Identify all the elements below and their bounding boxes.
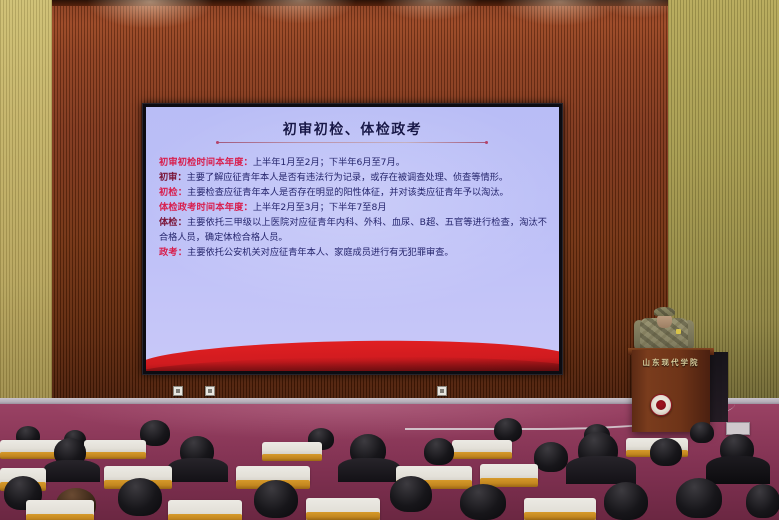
audience-area <box>0 404 779 520</box>
slide-line-4: 体检政考时间本年度：上半年2月至3月；下半年7至8月 <box>159 201 547 216</box>
audience-seat-arm <box>524 512 596 520</box>
audience-seat-arm <box>306 512 380 520</box>
audience-head <box>746 484 779 518</box>
slide-line-3-text: 主要检查应征青年本人是否存在明显的阳性体征，并对该类应征青年予以淘汰。 <box>187 187 509 198</box>
slide-line-6-lead: 政考： <box>159 247 187 258</box>
audience-head <box>460 484 506 520</box>
audience-head <box>690 422 714 443</box>
slide-line-6-text: 主要依托公安机关对应征青年本人、家庭成员进行有无犯罪审查。 <box>187 247 453 258</box>
projection-screen: 初审初检、体检政考 初审初检时间本年度：上半年1月至2月；下半年6月至7月。 初… <box>146 107 559 371</box>
slide-title: 初审初检、体检政考 <box>146 119 559 139</box>
slide-line-1-lead: 初审初检时间本年度： <box>159 157 253 168</box>
title-underline-rule <box>218 142 486 143</box>
slide-line-5: 体检：主要依托三甲级以上医院对应征青年内科、外科、血尿、B超、五官等进行检查，淘… <box>159 216 547 245</box>
audience-head <box>424 438 454 465</box>
slide-line-2-lead: 初审： <box>159 172 187 183</box>
slide-body: 初审初检时间本年度：上半年1月至2月；下半年6月至7月。 初审：主要了解应征青年… <box>159 156 547 261</box>
wall-top-trim <box>0 0 779 6</box>
audience-shoulders <box>168 458 228 482</box>
audience-seat-arm <box>262 454 322 461</box>
audience-seat-arm <box>26 514 94 520</box>
audience-head <box>534 442 568 472</box>
audience-seat-arm <box>84 452 146 459</box>
slide-line-4-lead: 体检政考时间本年度： <box>159 202 253 213</box>
slide-line-5-lead: 体检： <box>159 217 187 228</box>
slide-line-3-lead: 初检： <box>159 187 187 198</box>
slide-line-1-text: 上半年1月至2月；下半年6月至7月。 <box>253 157 405 168</box>
audience-head <box>254 480 298 518</box>
audience-shoulders <box>338 458 400 482</box>
slide-line-2-text: 主要了解应征青年本人是否有违法行为记录，或存在被调查处理、侦查等情形。 <box>187 172 509 183</box>
audience-head <box>650 438 682 466</box>
slide-line-2: 初审：主要了解应征青年本人是否有违法行为记录，或存在被调查处理、侦查等情形。 <box>159 171 547 186</box>
audience-head <box>494 418 522 442</box>
audience-shoulders <box>44 460 100 482</box>
audience-head <box>676 478 722 518</box>
slide-line-5-text: 主要依托三甲级以上医院对应征青年内科、外科、血尿、B超、五官等进行检查，淘汰不合… <box>159 217 547 243</box>
wall-socket-3 <box>437 386 447 396</box>
audience-seat-arm <box>452 452 512 459</box>
podium-institution-name: 山东现代学院 <box>636 357 706 368</box>
audience-seat-arm <box>168 514 242 520</box>
wall-socket-2 <box>205 386 215 396</box>
audience-head <box>604 482 648 520</box>
wall-panel-left <box>0 0 52 400</box>
slide-line-6: 政考：主要依托公安机关对应征青年本人、家庭成员进行有无犯罪审查。 <box>159 246 547 261</box>
audience-shoulders <box>566 456 636 484</box>
slide-line-4-text: 上半年2月至3月；下半年7至8月 <box>253 202 387 213</box>
speaker-uniform-badge <box>676 329 681 334</box>
wall-socket-1 <box>173 386 183 396</box>
audience-head <box>118 478 162 516</box>
auditorium-scene: 初审初检、体检政考 初审初检时间本年度：上半年1月至2月；下半年6月至7月。 初… <box>0 0 779 520</box>
audience-shoulders <box>706 456 770 484</box>
slide-line-1: 初审初检时间本年度：上半年1月至2月；下半年6月至7月。 <box>159 156 547 171</box>
speaker-military-cap <box>654 307 675 316</box>
slide-line-3: 初检：主要检查应征青年本人是否存在明显的阳性体征，并对该类应征青年予以淘汰。 <box>159 186 547 201</box>
audience-head <box>390 476 432 512</box>
